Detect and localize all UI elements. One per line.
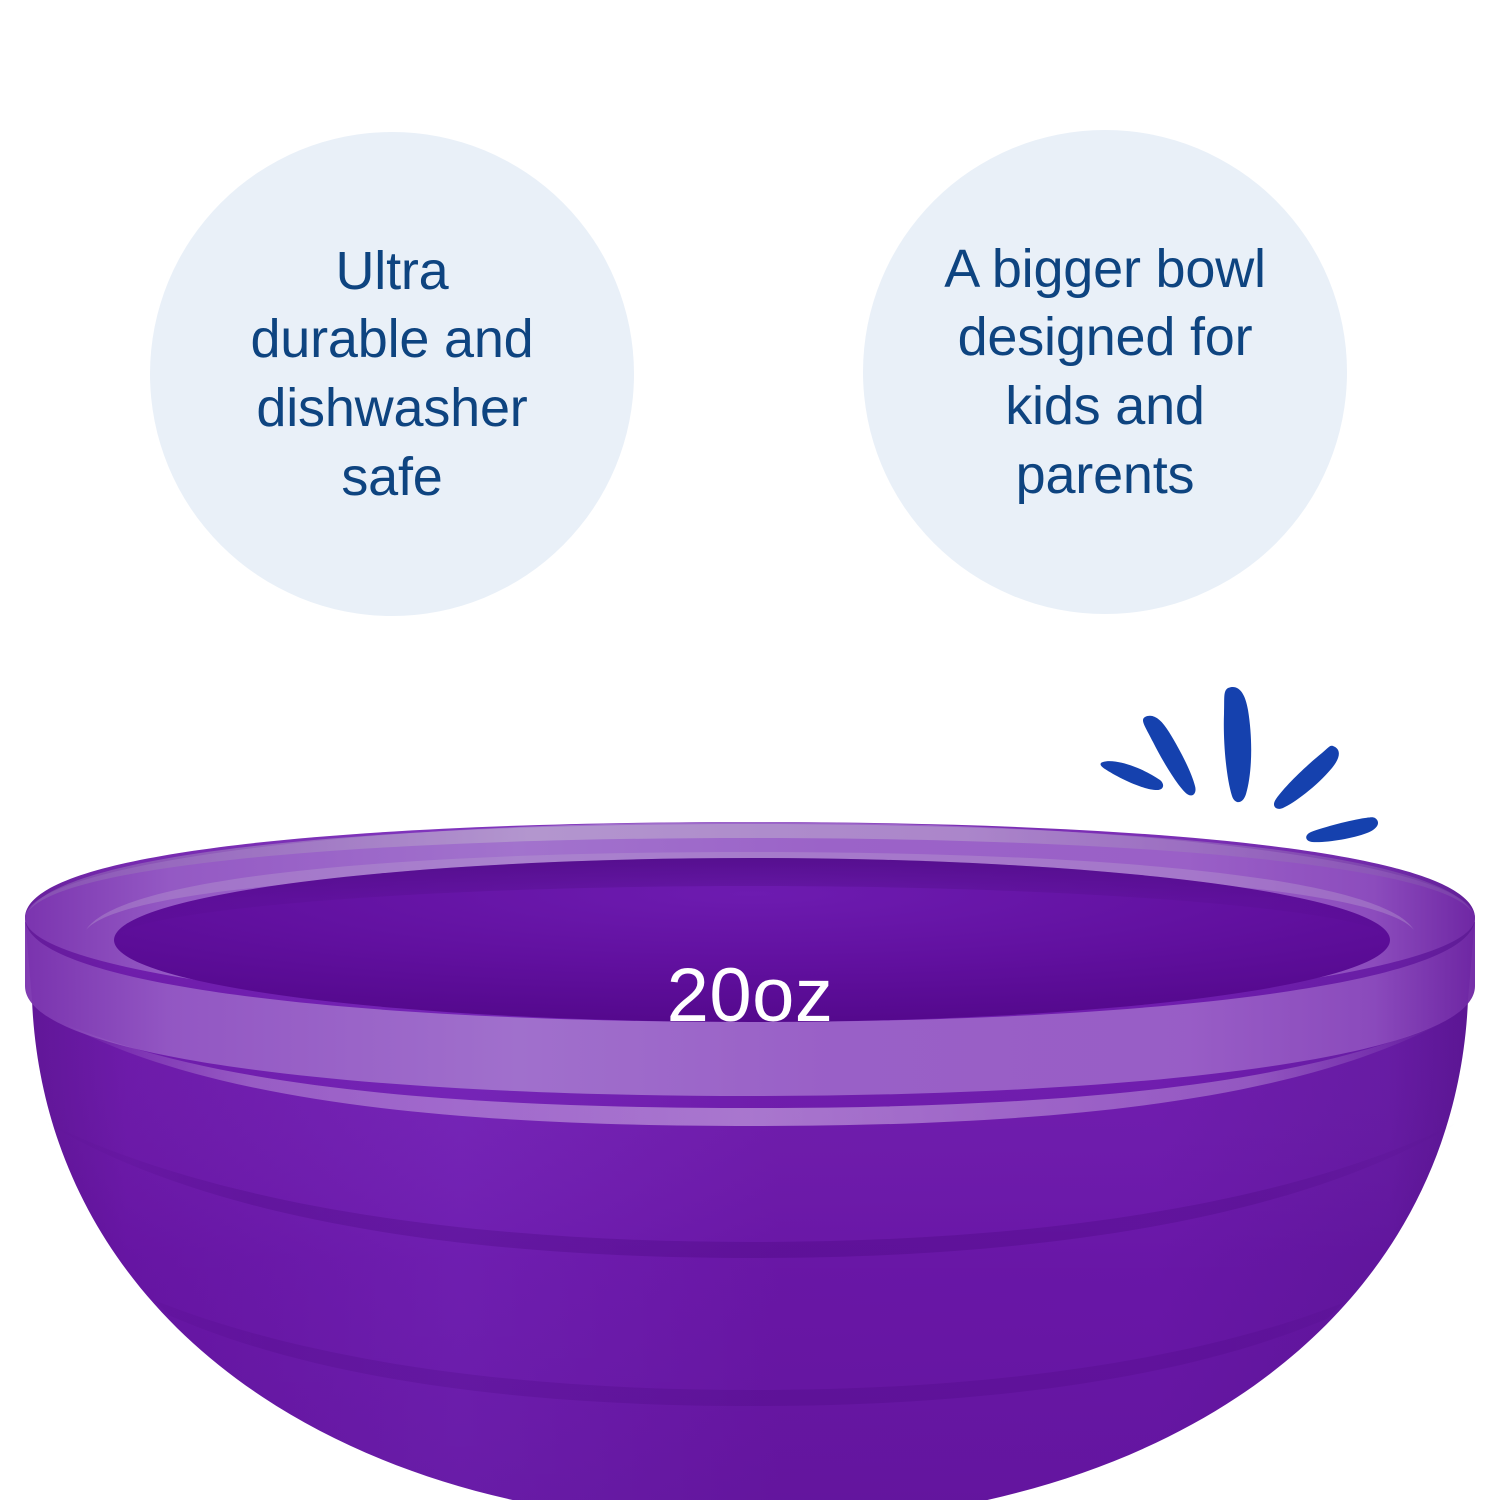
product-feature-graphic: Ultra durable and dishwasher safe A bigg… (0, 0, 1500, 1500)
bowl-interior (114, 858, 1390, 1022)
sparkle-ray-3 (1224, 687, 1251, 802)
feature-badge-bigger: A bigger bowl designed for kids and pare… (863, 130, 1347, 614)
feature-badge-durable: Ultra durable and dishwasher safe (150, 132, 634, 616)
bowl-svg (0, 790, 1500, 1500)
feature-badge-durable-label: Ultra durable and dishwasher safe (216, 237, 567, 511)
sparkle-ray-1 (1101, 761, 1164, 790)
bowl-product-image (0, 790, 1500, 1500)
feature-badge-bigger-label: A bigger bowl designed for kids and pare… (922, 235, 1288, 509)
